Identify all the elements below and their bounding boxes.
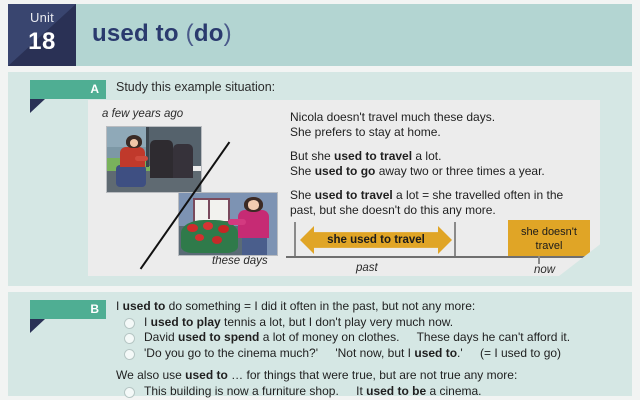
emphasis-phrase: used to bbox=[123, 299, 166, 313]
explanation-text: Nicola doesn't travel much these days.Sh… bbox=[290, 110, 590, 227]
paren-close: ) bbox=[224, 20, 232, 47]
text-run: 'Do you go to the cinema much?' bbox=[144, 346, 318, 360]
emphasis-phrase: used to go bbox=[315, 164, 376, 178]
section-b: B I used to do something = I did it ofte… bbox=[8, 292, 632, 396]
timeline-axis-line bbox=[286, 256, 594, 258]
unit-number-label: 18 bbox=[8, 28, 76, 56]
text-run: This building is now a furniture shop. bbox=[144, 384, 339, 398]
example-sentence: 'Do you go to the cinema much?' 'Not now… bbox=[116, 346, 636, 362]
illustration-woman-on-train bbox=[106, 126, 202, 193]
now-box-line-1: she doesn't bbox=[508, 225, 590, 239]
explanation-paragraph: But she used to travel a lot.She used to… bbox=[290, 149, 590, 179]
rule-statement: We also use used to … for things that we… bbox=[116, 368, 636, 384]
section-b-tab-fold-icon bbox=[30, 319, 45, 333]
bullet-circle-icon bbox=[124, 318, 135, 329]
section-b-tab[interactable]: B bbox=[30, 300, 106, 319]
emphasis-phrase: used to travel bbox=[334, 149, 412, 163]
section-a-tab-label: A bbox=[90, 82, 99, 96]
text-run: (= I used to go) bbox=[477, 346, 561, 360]
example-sentence: This building is now a furniture shop. I… bbox=[116, 384, 636, 400]
text-run: We also use bbox=[116, 368, 185, 382]
spacer bbox=[116, 361, 636, 368]
section-a-tab[interactable]: A bbox=[30, 80, 106, 99]
page-title-parenthetical: (do) bbox=[186, 20, 232, 47]
bullet-circle-icon bbox=[124, 349, 135, 360]
text-run: She prefers to stay at home. bbox=[290, 125, 441, 139]
rule-statement: I used to do something = I did it often … bbox=[116, 299, 636, 315]
example-panel: a few years ago these days Nicol bbox=[88, 100, 600, 276]
text-run: David bbox=[144, 330, 178, 344]
text-run: I bbox=[144, 315, 151, 329]
emphasis-phrase: used to play bbox=[151, 315, 221, 329]
text-run: a lot. bbox=[412, 149, 441, 163]
timeline-tick-now bbox=[538, 256, 540, 264]
illustration-woman-at-home bbox=[178, 192, 278, 256]
now-box-line-2: travel bbox=[508, 239, 590, 253]
text-run: Nicola doesn't travel much these days. bbox=[290, 110, 495, 124]
text-run: 'Not now, but I bbox=[332, 346, 414, 360]
text-run: It bbox=[353, 384, 366, 398]
paren-open: ( bbox=[186, 20, 194, 47]
caption-a-few-years-ago: a few years ago bbox=[102, 108, 183, 120]
text-run: But she bbox=[290, 149, 334, 163]
example-sentence: I used to play tennis a lot, but I don't… bbox=[116, 315, 636, 331]
timeline-tick-end-past bbox=[454, 222, 456, 256]
text-run: These days he can't afford it. bbox=[413, 330, 570, 344]
text-run: do something = I did it often in the pas… bbox=[165, 299, 475, 313]
text-run: She bbox=[290, 188, 315, 202]
page-root: Unit 18 used to (do) A Study this exampl… bbox=[0, 0, 640, 400]
section-a: A Study this example situation: a few ye… bbox=[8, 72, 632, 286]
explanation-paragraph: Nicola doesn't travel much these days.Sh… bbox=[290, 110, 590, 140]
text-run: tennis a lot, but I don't play very much… bbox=[221, 315, 453, 329]
page-title: used to (do) bbox=[92, 20, 232, 48]
text-run: a cinema. bbox=[426, 384, 481, 398]
unit-number-box: Unit 18 bbox=[8, 4, 76, 66]
section-b-content: I used to do something = I did it often … bbox=[116, 299, 636, 399]
text-run: I bbox=[116, 299, 123, 313]
caption-these-days: these days bbox=[212, 255, 268, 267]
timeline-label-now: now bbox=[534, 264, 555, 276]
timeline-arrow-label: she used to travel bbox=[300, 226, 452, 254]
emphasis-phrase: used to be bbox=[366, 384, 426, 398]
unit-header: Unit 18 used to (do) bbox=[8, 4, 632, 66]
unit-word-label: Unit bbox=[8, 10, 76, 25]
bullet-circle-icon bbox=[124, 333, 135, 344]
timeline-now-box: she doesn't travel bbox=[508, 220, 590, 256]
emphasis-phrase: used to travel bbox=[315, 188, 393, 202]
section-b-tab-label: B bbox=[90, 302, 99, 316]
paren-bold-word: do bbox=[194, 20, 224, 47]
text-run: away two or three times a year. bbox=[375, 164, 544, 178]
timeline-label-past: past bbox=[356, 262, 378, 274]
section-a-tab-fold-icon bbox=[30, 99, 45, 113]
emphasis-phrase: used to spend bbox=[178, 330, 259, 344]
bullet-circle-icon bbox=[124, 387, 135, 398]
emphasis-phrase: used to bbox=[185, 368, 228, 382]
timeline-diagram: she used to travel she doesn't travel pa… bbox=[286, 212, 594, 276]
text-run: She bbox=[290, 164, 315, 178]
example-sentence: David used to spend a lot of money on cl… bbox=[116, 330, 636, 346]
page-title-main: used to bbox=[92, 20, 179, 47]
text-run: a lot of money on clothes. bbox=[259, 330, 399, 344]
text-run: … for things that were true, but are not… bbox=[228, 368, 517, 382]
emphasis-phrase: used to bbox=[414, 346, 457, 360]
text-run: .' bbox=[457, 346, 463, 360]
timeline-tick-start bbox=[294, 222, 296, 256]
section-a-heading: Study this example situation: bbox=[116, 80, 275, 94]
